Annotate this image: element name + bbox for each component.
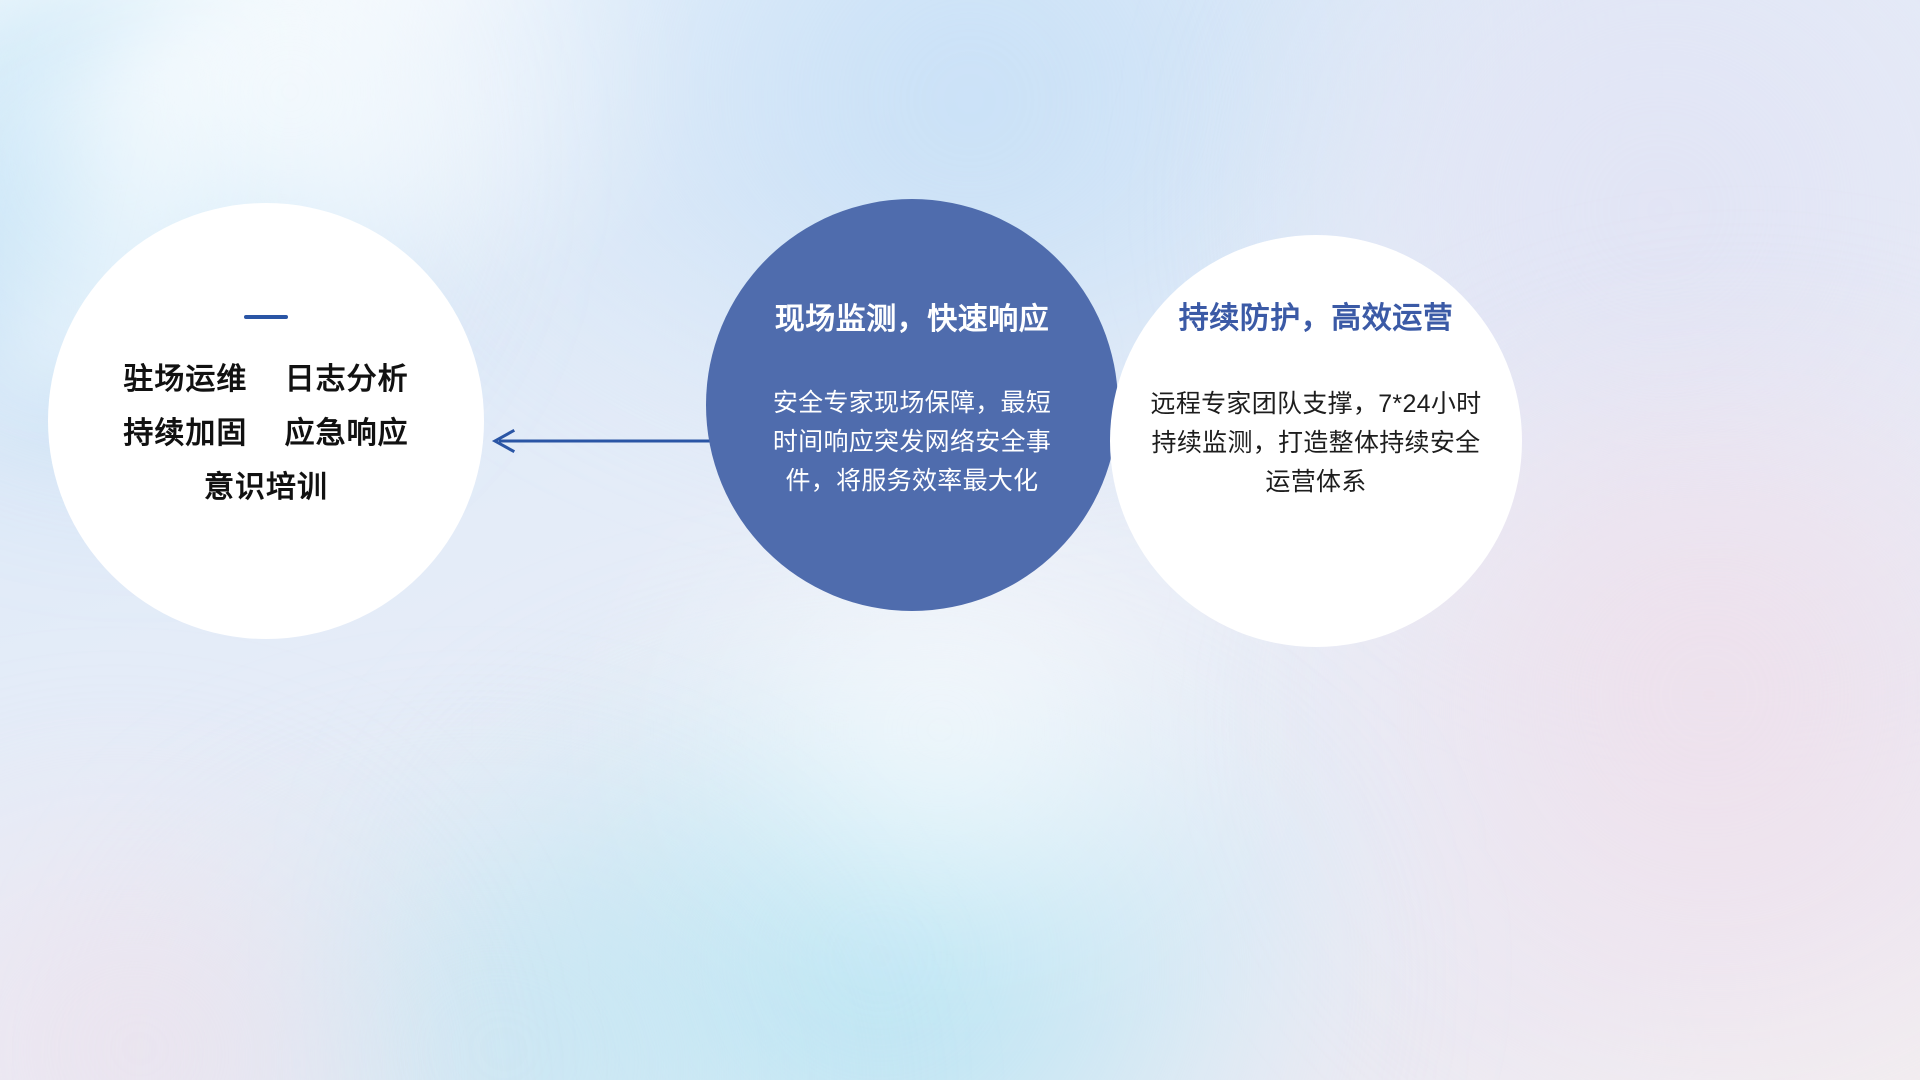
slide-canvas: 驻场运维 日志分析 持续加固 应急响应 意识培训 现场监测，快速响应 安全专家现… bbox=[0, 0, 1920, 1080]
onsite-monitoring-circle[interactable]: 现场监测，快速响应 安全专家现场保障，最短时间响应突发网络安全事件，将服务效率最… bbox=[706, 199, 1118, 611]
onsite-monitoring-title: 现场监测，快速响应 bbox=[775, 294, 1050, 338]
capability-list: 驻场运维 日志分析 持续加固 应急响应 意识培训 bbox=[123, 363, 408, 504]
capability-line-2: 持续加固 应急响应 bbox=[123, 417, 408, 450]
onsite-monitoring-body: 安全专家现场保障，最短时间响应突发网络安全事件，将服务效率最大化 bbox=[762, 384, 1062, 500]
capability-circle[interactable]: 驻场运维 日志分析 持续加固 应急响应 意识培训 bbox=[48, 203, 484, 639]
divider-dash-icon bbox=[244, 315, 288, 319]
continuous-protection-body: 远程专家团队支撑，7*24小时持续监测，打造整体持续安全运营体系 bbox=[1140, 385, 1492, 501]
continuous-protection-circle[interactable]: 持续防护，高效运营 远程专家团队支撑，7*24小时持续监测，打造整体持续安全运营… bbox=[1110, 235, 1522, 647]
capability-line-3: 意识培训 bbox=[204, 471, 328, 504]
arrow-pointing-left-icon bbox=[485, 420, 715, 462]
capability-line-1: 驻场运维 日志分析 bbox=[123, 363, 408, 396]
continuous-protection-title: 持续防护，高效运营 bbox=[1179, 293, 1454, 337]
